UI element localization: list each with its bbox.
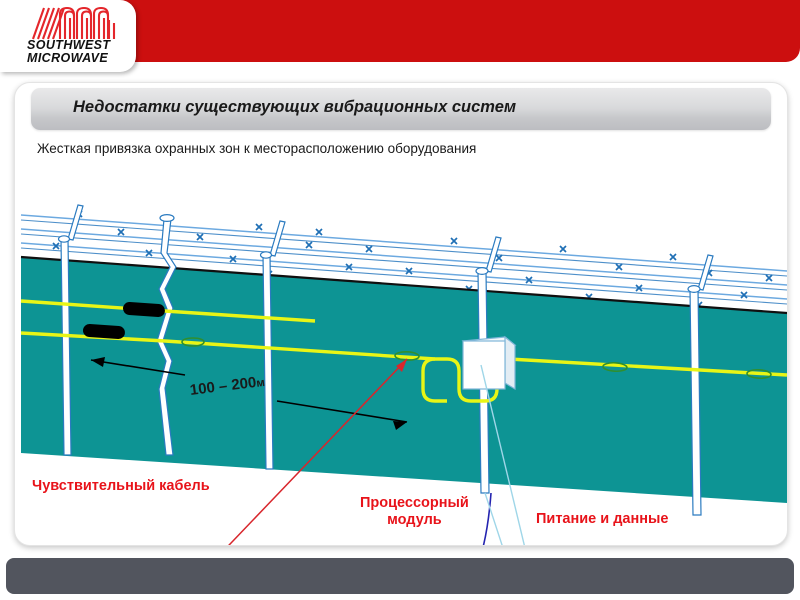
slide-subtitle: Жесткая привязка охранных зон к месторас… [37,141,476,156]
processor-module-label: Процессорный модуль [360,495,469,529]
processor-module-label-line2: модуль [360,512,469,529]
slide-canvas: SOUTHWEST MICROWAVE Недостатки существую… [0,0,800,600]
power-and-data-label: Питание и данные [536,511,668,527]
brand-wordmark: SOUTHWEST MICROWAVE [27,39,110,64]
processor-module-label-line1: Процессорный [360,495,469,512]
processor-module-box [463,337,515,389]
sensor-cable-label: Чувствительный кабель [32,478,210,494]
content-panel: Недостатки существующих вибрационных сис… [14,82,788,546]
brand-line-1: SOUTHWEST [27,39,110,52]
slide-title-bar: Недостатки существующих вибрационных сис… [31,88,771,130]
brand-logo-plate: SOUTHWEST MICROWAVE [0,0,136,72]
fence-panel [21,257,787,503]
distance-unit: м [256,377,266,390]
brand-line-2: MICROWAVE [27,52,110,65]
footer-bar [6,558,794,594]
page-title: Недостатки существующих вибрационных сис… [73,98,516,117]
southwest-microwave-m-logo-icon [30,6,122,40]
